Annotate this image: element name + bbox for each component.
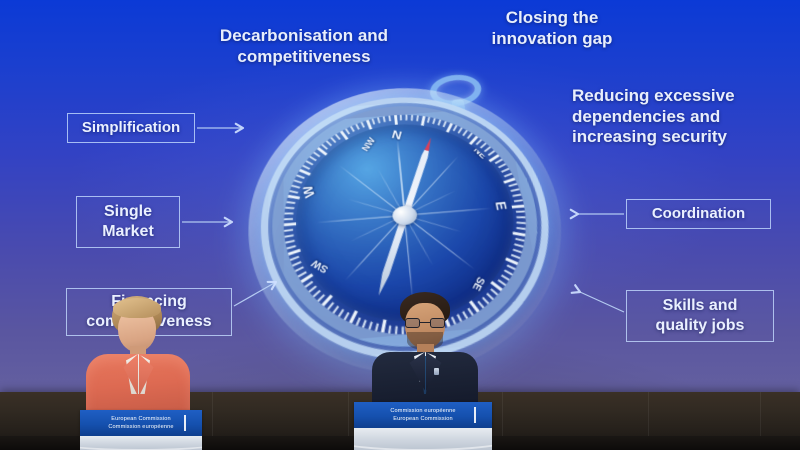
podium-left-divider: [184, 415, 186, 431]
compass-spoke: [386, 215, 406, 269]
podium-right-line2: European Commission: [393, 415, 452, 423]
speaker-right: [372, 292, 478, 414]
podium-right-body: [354, 428, 492, 450]
podium-left-nameplate: European Commission Commission européenn…: [80, 410, 202, 436]
podium-left-line1: European Commission: [111, 415, 170, 423]
callout-closing-innovation-gap: Closing the innovation gap: [472, 8, 632, 49]
compass-needle-south: [375, 214, 409, 296]
speaker-left: [86, 296, 190, 414]
speaker-right-lapel-pin: [434, 368, 439, 375]
arrow-skills: [580, 292, 624, 312]
podium-right: Commission européenne European Commissio…: [354, 402, 492, 450]
compass-spoke: [345, 215, 405, 281]
callout-box-skills-quality-jobs: Skills and quality jobs: [626, 290, 774, 342]
compass-cardinal-sw: SW: [310, 257, 331, 275]
podium-left-line2: Commission européenne: [108, 423, 173, 431]
speaker-left-fringe: [113, 298, 161, 318]
compass-cardinal-se: SE: [469, 275, 486, 293]
callout-decarbonisation-competitiveness: Decarbonisation and competitiveness: [198, 26, 410, 67]
compass-spoke: [404, 215, 434, 266]
glasses-icon: [405, 318, 445, 328]
competitiveness-compass-graphic: 306090120150180210240270300330360 N NE E…: [242, 74, 583, 325]
callout-box-coordination: Coordination: [626, 199, 771, 229]
podium-left-body: [80, 436, 202, 450]
press-conference-scene: 306090120150180210240270300330360 N NE E…: [0, 0, 800, 450]
callout-reducing-dependencies: Reducing excessive dependencies and incr…: [572, 86, 790, 148]
compass-spoke: [404, 215, 475, 270]
podium-left: European Commission Commission européenn…: [80, 410, 202, 450]
podium-right-line1: Commission européenne: [390, 407, 455, 415]
callout-box-simplification: Simplification: [67, 113, 195, 143]
podium-right-divider: [474, 407, 476, 423]
podium-right-nameplate: Commission européenne European Commissio…: [354, 402, 492, 428]
callout-box-single-market: Single Market: [76, 196, 180, 248]
